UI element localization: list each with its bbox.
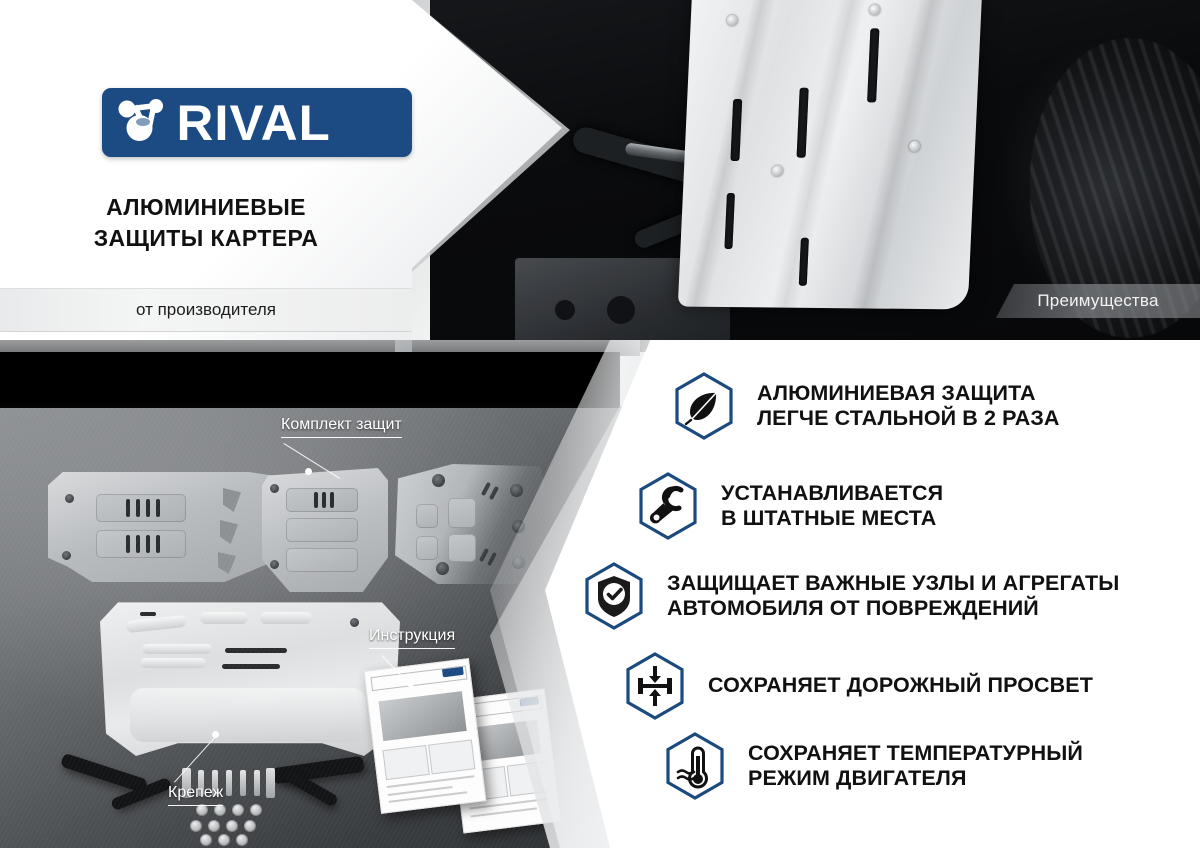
page-title-line1: АЛЮМИНИЕВЫЕ [0,192,412,223]
product-bracket-right-2 [283,768,339,807]
shield-check-icon [583,562,645,630]
callout-manual: Инструкция [369,627,455,649]
benefit-item-1: УСТАНАВЛИВАЕТСЯ В ШТАТНЫЕ МЕСТА [637,472,943,540]
product-plate-middle [262,468,388,592]
advantages-tab-label: Преимущества [1037,291,1158,311]
product-plate-left [48,472,293,582]
wrench-icon [637,472,699,540]
molecule-icon [102,97,170,148]
page-title: АЛЮМИНИЕВЫЕ ЗАЩИТЫ КАРТЕРА [0,192,412,253]
leaf-icon [673,372,735,440]
callout-hardware-dot [212,731,219,738]
benefit-item-2: ЗАЩИЩАЕТ ВАЖНЫЕ УЗЛЫ И АГРЕГАТЫ АВТОМОБИ… [583,562,1119,630]
manual-sheet-front [364,658,487,814]
callout-manual-dot [407,680,414,687]
benefit-item-3: СОХРАНЯЕТ ДОРОЖНЫЙ ПРОСВЕТ [624,652,1093,720]
benefit-item-4: СОХРАНЯЕТ ТЕМПЕРАТУРНЫЙ РЕЖИМ ДВИГАТЕЛЯ [664,732,1083,800]
product-bracket-left-2 [110,777,172,811]
product-bracket-left [60,753,148,794]
advantages-tab[interactable]: Преимущества [996,284,1200,318]
rival-logo: RIVAL [102,88,412,157]
callout-kit: Комплект защит [281,416,402,438]
thermometer-icon [664,732,726,800]
benefit-label-4: СОХРАНЯЕТ ТЕМПЕРАТУРНЫЙ РЕЖИМ ДВИГАТЕЛЯ [748,741,1083,792]
callout-hardware-label: Крепеж [168,784,223,801]
poster-root: RIVAL АЛЮМИНИЕВЫЕ ЗАЩИТЫ КАРТЕРА от прои… [0,0,1200,848]
photo-skid-plate [678,0,982,310]
subtitle-strip: от производителя [0,288,412,332]
product-plate-large [100,596,400,756]
benefit-item-0: АЛЮМИНИЕВАЯ ЗАЩИТА ЛЕГЧЕ СТАЛЬНОЙ В 2 РА… [673,372,1060,440]
divider-dark-band [0,352,620,408]
benefit-label-2: ЗАЩИЩАЕТ ВАЖНЫЕ УЗЛЫ И АГРЕГАТЫ АВТОМОБИ… [667,571,1119,622]
subtitle-text: от производителя [136,300,276,320]
benefit-label-3: СОХРАНЯЕТ ДОРОЖНЫЙ ПРОСВЕТ [708,673,1093,698]
callout-manual-label: Инструкция [369,627,455,644]
product-bracket-right [271,756,364,785]
benefit-label-0: АЛЮМИНИЕВАЯ ЗАЩИТА ЛЕГЧЕ СТАЛЬНОЙ В 2 РА… [757,381,1060,432]
callout-kit-label: Комплект защит [281,416,402,433]
benefit-label-1: УСТАНАВЛИВАЕТСЯ В ШТАТНЫЕ МЕСТА [721,481,943,532]
callout-hardware: Крепеж [168,784,223,806]
callout-kit-dot [305,468,312,475]
logo-wordmark: RIVAL [176,98,330,148]
page-title-line2: ЗАЩИТЫ КАРТЕРА [0,223,412,254]
clearance-arrows-icon [624,652,686,720]
